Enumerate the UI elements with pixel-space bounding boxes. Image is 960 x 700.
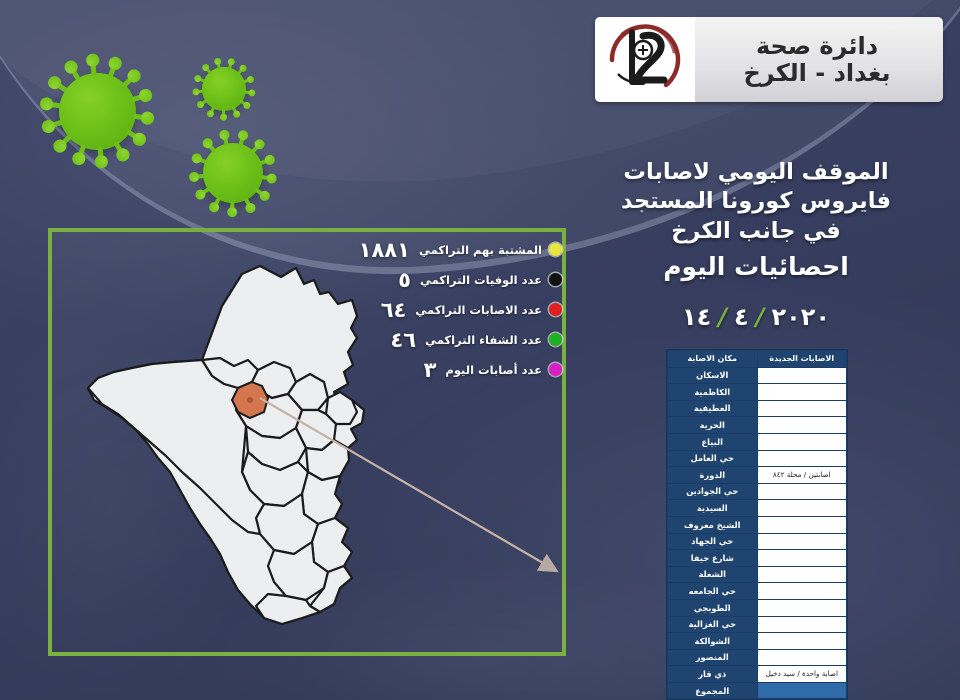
virus-spike bbox=[223, 136, 229, 146]
virus-spike bbox=[242, 79, 250, 84]
virus-spike bbox=[222, 109, 225, 116]
cell-total-value[interactable] bbox=[757, 682, 847, 699]
legend-value-suspected: ١٨٨١ bbox=[359, 238, 410, 262]
table-row: الشيخ معروف bbox=[668, 516, 847, 533]
virus-icon-small bbox=[193, 58, 255, 120]
legend-item: المشتبة بهم التراكمي ١٨٨١ bbox=[330, 236, 562, 263]
table-header-row: الاصابات الجديدة مكان الاصابة bbox=[668, 351, 847, 368]
table-row: الشوالكة bbox=[668, 633, 847, 650]
title-line-1: الموقف اليومي لاصابات bbox=[560, 158, 952, 187]
virus-spike bbox=[122, 75, 135, 87]
cell-new-cases[interactable] bbox=[757, 433, 847, 450]
cell-new-cases[interactable] bbox=[757, 533, 847, 550]
cell-new-cases[interactable] bbox=[757, 384, 847, 401]
cell-new-cases[interactable]: اصابة واحدة / سيد دخيل bbox=[757, 666, 847, 683]
cell-new-cases[interactable] bbox=[757, 566, 847, 583]
virus-spike bbox=[217, 63, 222, 71]
virus-spike bbox=[98, 147, 104, 160]
virus-spike bbox=[255, 188, 265, 197]
table-row: حي الغزالية bbox=[668, 616, 847, 633]
column-header-place: مكان الاصابة bbox=[668, 351, 758, 368]
virus-spike bbox=[213, 197, 221, 208]
table-row: حي الجامعه bbox=[668, 583, 847, 600]
cell-place: المنصور bbox=[668, 649, 758, 666]
organization-logo: دائرة صحة بغداد - الكرخ bbox=[595, 17, 943, 102]
cell-place: العطيفية bbox=[668, 400, 758, 417]
virus-spike bbox=[60, 134, 73, 146]
legend-label-recovered: عدد الشفاء التراكمي bbox=[425, 333, 542, 347]
cell-place: الشعلة bbox=[668, 566, 758, 583]
legend-label-today: عدد أصابات اليوم bbox=[445, 363, 542, 377]
title-line-3: في جانب الكرخ bbox=[560, 217, 952, 246]
legend-value-recovered: ٤٦ bbox=[390, 328, 416, 352]
table-row: شارع حيفا bbox=[668, 550, 847, 567]
logo-line-1: دائرة صحة bbox=[695, 33, 939, 60]
cell-place: الشيخ معروف bbox=[668, 516, 758, 533]
virus-spike bbox=[49, 120, 63, 129]
cell-place: الطوبجي bbox=[668, 599, 758, 616]
cell-place: ذي قار bbox=[668, 666, 758, 683]
date-day: ١٤ bbox=[682, 303, 711, 331]
legend-value-deaths: ٥ bbox=[398, 268, 411, 292]
table-row: الكاظمية bbox=[668, 384, 847, 401]
cell-new-cases[interactable] bbox=[757, 417, 847, 434]
cell-total-label: المجموع bbox=[668, 682, 758, 699]
virus-spike bbox=[259, 158, 270, 165]
logo-line-2: بغداد - الكرخ bbox=[695, 60, 939, 87]
table-row: الاسكان bbox=[668, 367, 847, 384]
virus-spike bbox=[113, 141, 124, 154]
virus-spike bbox=[77, 144, 86, 158]
cell-new-cases[interactable] bbox=[757, 550, 847, 567]
virus-spike bbox=[244, 197, 252, 208]
cell-new-cases[interactable] bbox=[757, 367, 847, 384]
title-subtitle: احصائيات اليوم bbox=[560, 251, 952, 282]
page-title: الموقف اليومي لاصابات فايروس كورونا المس… bbox=[560, 158, 952, 282]
legend-label-deaths: عدد الوفيات التراكمي bbox=[420, 273, 542, 287]
statistics-legend: المشتبة بهم التراكمي ١٨٨١ عدد الوفيات ال… bbox=[330, 236, 562, 386]
date-month: ٤ bbox=[734, 303, 749, 331]
legend-dot-cases-icon bbox=[549, 303, 562, 316]
legend-dot-recovered-icon bbox=[549, 333, 562, 346]
table-row: الحرية bbox=[668, 417, 847, 434]
table-row: اصابة واحدة / سيد دخيلذي قار bbox=[668, 666, 847, 683]
table-row: الشعلة bbox=[668, 566, 847, 583]
virus-spike bbox=[90, 62, 96, 75]
cell-new-cases[interactable] bbox=[757, 616, 847, 633]
virus-spike bbox=[55, 82, 68, 93]
table-total-row: المجموع bbox=[668, 682, 847, 699]
legend-dot-deaths-icon bbox=[549, 273, 562, 286]
legend-label-suspected: المشتبة بهم التراكمي bbox=[419, 243, 542, 257]
virus-spike bbox=[48, 102, 61, 109]
logo-text: دائرة صحة بغداد - الكرخ bbox=[695, 33, 943, 87]
legend-item: عدد الوفيات التراكمي ٥ bbox=[330, 266, 562, 293]
cell-new-cases[interactable]: اصابتين / محلة ٨٤٢ bbox=[757, 467, 847, 484]
cell-place: الحرية bbox=[668, 417, 758, 434]
virus-spike bbox=[70, 67, 81, 80]
cell-place: السيدية bbox=[668, 500, 758, 517]
table-row: حي الجوادين bbox=[668, 483, 847, 500]
cell-new-cases[interactable] bbox=[757, 483, 847, 500]
table-row: حي الجهاد bbox=[668, 533, 847, 550]
cell-new-cases[interactable] bbox=[757, 599, 847, 616]
cell-place: حي الجهاد bbox=[668, 533, 758, 550]
virus-icon-medium bbox=[190, 130, 276, 216]
cell-place: الدورة bbox=[668, 467, 758, 484]
legend-dot-today-icon bbox=[549, 363, 562, 376]
infographic-canvas: دائرة صحة بغداد - الكرخ الموقف اليومي لا… bbox=[0, 0, 960, 700]
cell-new-cases[interactable] bbox=[757, 400, 847, 417]
table-row: السيدية bbox=[668, 500, 847, 517]
cell-place: الاسكان bbox=[668, 367, 758, 384]
legend-item: عدد أصابات اليوم ٣ bbox=[330, 356, 562, 383]
health-directorate-emblem-icon bbox=[595, 17, 695, 102]
title-line-2: فايروس كورونا المستجد bbox=[560, 187, 952, 216]
virus-spike bbox=[230, 201, 234, 211]
virus-spike bbox=[126, 129, 139, 140]
cell-new-cases[interactable] bbox=[757, 583, 847, 600]
cell-place: حي الجامعه bbox=[668, 583, 758, 600]
cell-place: الكاظمية bbox=[668, 384, 758, 401]
table-row: المنصور bbox=[668, 649, 847, 666]
legend-value-today: ٣ bbox=[424, 358, 437, 382]
cell-new-cases[interactable] bbox=[757, 516, 847, 533]
locations-table: الاصابات الجديدة مكان الاصابة الاسكانالك… bbox=[666, 349, 848, 700]
table-row: الطوبجي bbox=[668, 599, 847, 616]
virus-icon-large bbox=[42, 56, 152, 166]
cell-place: شارع حيفا bbox=[668, 550, 758, 567]
report-date: ١٤/٤/٢٠٢٠ bbox=[560, 303, 952, 331]
legend-item: عدد الاصابات التراكمي ٦٤ bbox=[330, 296, 562, 323]
column-header-new-cases: الاصابات الجديدة bbox=[757, 351, 847, 368]
table-row: حي العامل bbox=[668, 450, 847, 467]
date-separator-1: / bbox=[711, 303, 734, 331]
virus-spike bbox=[108, 64, 117, 78]
cell-new-cases[interactable] bbox=[757, 649, 847, 666]
cell-new-cases[interactable] bbox=[757, 500, 847, 517]
legend-item: عدد الشفاء التراكمي ٤٦ bbox=[330, 326, 562, 353]
cell-new-cases[interactable] bbox=[757, 633, 847, 650]
legend-value-cases: ٦٤ bbox=[381, 298, 407, 322]
legend-dot-suspected-icon bbox=[549, 243, 562, 256]
virus-spike bbox=[239, 99, 247, 106]
table-row: اصابتين / محلة ٨٤٢الدورة bbox=[668, 467, 847, 484]
legend-label-cases: عدد الاصابات التراكمي bbox=[415, 303, 542, 317]
cell-place: حي الجوادين bbox=[668, 483, 758, 500]
cell-place: حي العامل bbox=[668, 450, 758, 467]
cell-place: الشوالكة bbox=[668, 633, 758, 650]
virus-spike bbox=[207, 143, 216, 153]
table-row: البياع bbox=[668, 433, 847, 450]
cell-new-cases[interactable] bbox=[757, 450, 847, 467]
cell-place: البياع bbox=[668, 433, 758, 450]
date-separator-2: / bbox=[749, 303, 772, 331]
cell-place: حي الغزالية bbox=[668, 616, 758, 633]
table-row: العطيفية bbox=[668, 400, 847, 417]
date-year: ٢٠٢٠ bbox=[771, 303, 830, 331]
virus-spike bbox=[131, 94, 145, 103]
